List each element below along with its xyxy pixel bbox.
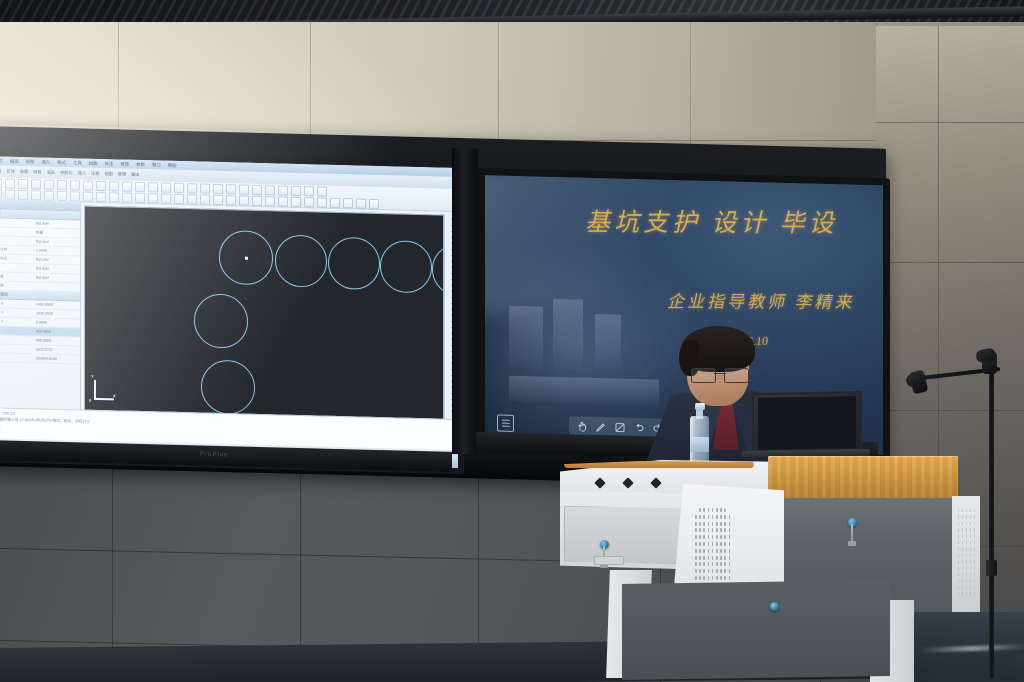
cad-tool-button[interactable] [252,195,262,205]
cad-tool-button[interactable] [213,194,223,204]
menu-item[interactable]: 文件 [0,158,3,164]
whiteboard-title-text: 基坑支护 设计 毕设 [585,203,856,240]
side-speaker-grille [956,506,976,598]
ribbon-tab[interactable]: 网格 [33,169,41,175]
cad-tool-button[interactable] [291,185,301,195]
menu-item[interactable]: 编辑 [10,158,19,164]
cad-tool-button[interactable] [5,178,15,188]
cad-tool-button[interactable] [304,197,314,207]
cad-tool-button[interactable] [161,182,171,192]
snap-marker [245,257,248,260]
cad-tool-button[interactable] [70,191,80,201]
presenter-glasses [691,368,749,381]
cad-tool-button[interactable] [239,195,249,205]
cad-tool-button[interactable] [83,180,93,190]
cad-circle-entity[interactable] [328,237,380,290]
cad-tool-button[interactable] [44,179,54,189]
mic-stand-pole [989,362,994,678]
cad-tool-button[interactable] [174,182,184,192]
eraser-tool-icon[interactable] [614,421,626,433]
cad-tool-button[interactable] [213,183,223,193]
ucs-label-origin: 0 [89,398,91,403]
cad-properties-palette[interactable]: 常规颜色ByLayer图层桩基线型ByLayer线型比例1.0000打印样式By… [0,199,81,414]
menu-item[interactable]: 插入 [41,159,50,165]
menu-item[interactable]: 标注 [105,161,114,167]
menu-item[interactable]: 窗口 [152,162,161,168]
cad-tool-button[interactable] [5,189,15,199]
cad-tool-button[interactable] [135,192,145,202]
ribbon-tab[interactable]: 参数化 [60,170,73,176]
property-row[interactable]: 面积502654.8246 [0,353,80,364]
ribbon-tab[interactable]: 曲面 [20,169,28,175]
lectern-wood-rail [564,461,754,468]
cad-tool-button[interactable] [252,184,262,194]
ribbon-tab[interactable]: 常用 [0,168,1,174]
cad-tool-button[interactable] [122,181,132,191]
cad-tool-button[interactable] [317,186,327,196]
cad-tool-button[interactable] [109,192,119,202]
cad-circle-entity[interactable] [275,234,327,287]
lectern-left-panel [564,506,684,564]
cad-tool-button[interactable] [317,197,327,207]
cad-tool-button[interactable] [174,193,184,203]
lectern [560,452,980,682]
laptop-screen [758,396,856,450]
menu-item[interactable]: 修改 [120,161,129,167]
undo-tool-icon[interactable] [633,421,645,433]
cad-tool-button[interactable] [187,183,197,193]
display-bezel-gap [452,148,478,455]
bottle-cap [695,403,705,410]
cad-tool-button[interactable] [226,195,236,205]
menu-item[interactable]: 格式 [57,159,66,165]
menu-item[interactable]: 工具 [73,160,82,166]
cad-tool-button[interactable] [57,179,67,189]
drawer-handle[interactable] [594,556,624,565]
cad-circle-entity[interactable] [432,243,444,296]
cad-tool-button[interactable] [330,197,340,207]
menu-item[interactable]: 参数 [136,161,145,167]
cad-tool-button[interactable] [109,181,119,191]
cad-tool-button[interactable] [70,180,80,190]
whiteboard-menu-button[interactable] [497,414,514,431]
cad-tool-button[interactable] [356,198,366,208]
ribbon-tab[interactable]: 视图 [104,171,112,177]
cad-tool-button[interactable] [135,181,145,191]
cad-circle-entity[interactable] [201,360,255,415]
cad-tool-button[interactable] [18,189,28,199]
cad-tool-button[interactable] [0,178,2,188]
cad-tool-button[interactable] [278,185,288,195]
cad-tool-button[interactable] [0,189,2,199]
menu-item[interactable]: 视图 [26,159,35,165]
lectern-lower-cabinet [622,580,890,680]
ribbon-tab[interactable]: 实体 [6,169,14,175]
cad-tool-button[interactable] [83,191,93,201]
cad-tool-button[interactable] [96,180,106,190]
cad-tool-button[interactable] [291,196,301,206]
cad-tool-button[interactable] [226,184,236,194]
cad-tool-button[interactable] [96,191,106,201]
cad-tool-button[interactable] [304,186,314,196]
ucs-label-y: Y [91,374,94,379]
display-brand-label: ProPlus [200,452,228,459]
cad-tool-button[interactable] [343,198,353,208]
cad-tool-button[interactable] [200,194,210,204]
cad-tool-button[interactable] [265,185,275,195]
cad-tool-button[interactable] [18,178,28,188]
cad-circle-entity[interactable] [194,293,248,348]
lectern-wood-top [768,456,958,500]
left-display-cad[interactable]: 文件 编辑 视图 插入 格式 工具 绘图 标注 修改 参数 窗口 帮助 常用 实… [0,150,464,474]
cad-tool-button[interactable] [57,190,67,200]
pointer-tool-icon[interactable] [576,420,588,432]
cad-tool-button[interactable] [31,190,41,200]
ribbon-tab[interactable]: 插入 [78,170,86,176]
cad-tool-button[interactable] [278,196,288,206]
ribbon-tab[interactable]: 注释 [91,171,99,177]
bottle-label [690,437,709,452]
lecture-hall-scene: 文件 编辑 视图 插入 格式 工具 绘图 标注 修改 参数 窗口 帮助 常用 实… [0,0,1024,682]
ribbon-tab[interactable]: 管理 [118,171,126,177]
pen-tool-icon[interactable] [595,420,607,432]
menu-item[interactable]: 绘图 [89,160,98,166]
cad-drawing-canvas[interactable]: Y X 0 [84,206,444,420]
ucs-icon: Y X 0 [91,376,117,403]
cad-tool-button[interactable] [187,194,197,204]
cad-tool-button[interactable] [239,184,249,194]
speaker-grille [692,504,732,596]
cad-tool-button[interactable] [44,190,54,200]
whiteboard-subtitle-text: 企业指导教师 李精来 [667,287,890,313]
mic-stand-joint [986,560,997,576]
cad-tool-button[interactable] [122,192,132,202]
cad-tool-button[interactable] [31,179,41,189]
lower-cabinet-lock[interactable] [770,602,779,611]
cad-tool-button[interactable] [148,193,158,203]
cad-tool-button[interactable] [369,198,379,208]
ucs-label-x: X [113,393,116,398]
menu-item[interactable]: 帮助 [168,162,177,168]
cad-tool-button[interactable] [265,196,275,206]
presenter-laptop [752,391,862,455]
cad-tool-button[interactable] [161,193,171,203]
cad-tool-button[interactable] [200,183,210,193]
cad-application[interactable]: 文件 编辑 视图 插入 格式 工具 绘图 标注 修改 参数 窗口 帮助 常用 实… [0,156,458,468]
cabinet-key[interactable] [851,524,853,546]
cad-circle-entity[interactable] [380,240,432,293]
cad-tool-button[interactable] [148,182,158,192]
ribbon-tab[interactable]: 输出 [131,172,139,178]
ribbon-tab[interactable]: 渲染 [47,170,55,176]
